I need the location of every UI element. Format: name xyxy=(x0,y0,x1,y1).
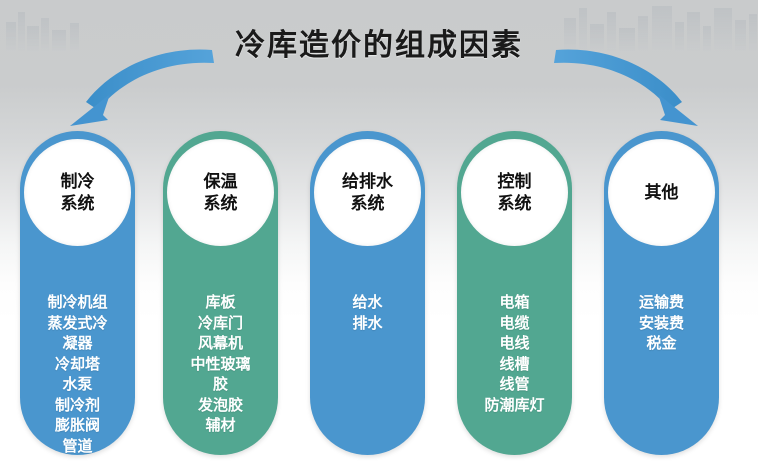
pill-items-water-supply-drainage: 给水 排水 xyxy=(310,292,425,333)
page-title: 冷库造价的组成因素 xyxy=(0,20,758,64)
infographic-canvas: 冷库造价的组成因素 制冷 系统 制冷机组 蒸发式冷 凝器 冷却塔 水泵 制冷剂 … xyxy=(0,0,758,473)
pill-circle-control: 控制 系统 xyxy=(461,139,568,246)
pill-heading-refrigeration: 制冷 系统 xyxy=(57,171,99,215)
pill-circle-other: 其他 xyxy=(608,139,715,246)
pill-row: 制冷 系统 制冷机组 蒸发式冷 凝器 冷却塔 水泵 制冷剂 膨胀阀 管道 保温 … xyxy=(0,131,758,461)
pill-circle-water-supply-drainage: 给排水 系统 xyxy=(314,139,421,246)
pill-circle-refrigeration: 制冷 系统 xyxy=(24,139,131,246)
category-pill-insulation[interactable]: 保温 系统 库板 冷库门 风幕机 中性玻璃 胶 发泡胶 辅材 xyxy=(163,131,278,455)
pill-items-control: 电箱 电缆 电线 线槽 线管 防潮库灯 xyxy=(457,292,572,415)
pill-heading-insulation: 保温 系统 xyxy=(200,171,242,215)
category-pill-other[interactable]: 其他 运输费 安装费 税金 xyxy=(604,131,719,455)
category-pill-refrigeration[interactable]: 制冷 系统 制冷机组 蒸发式冷 凝器 冷却塔 水泵 制冷剂 膨胀阀 管道 xyxy=(20,131,135,455)
pill-circle-insulation: 保温 系统 xyxy=(167,139,274,246)
category-pill-control[interactable]: 控制 系统 电箱 电缆 电线 线槽 线管 防潮库灯 xyxy=(457,131,572,455)
pill-heading-control: 控制 系统 xyxy=(494,171,536,215)
pill-heading-other: 其他 xyxy=(641,182,683,204)
pill-items-refrigeration: 制冷机组 蒸发式冷 凝器 冷却塔 水泵 制冷剂 膨胀阀 管道 xyxy=(20,292,135,456)
category-pill-water-supply-drainage[interactable]: 给排水 系统 给水 排水 xyxy=(310,131,425,455)
pill-heading-water-supply-drainage: 给排水 系统 xyxy=(338,171,397,215)
pill-items-insulation: 库板 冷库门 风幕机 中性玻璃 胶 发泡胶 辅材 xyxy=(163,292,278,436)
pill-items-other: 运输费 安装费 税金 xyxy=(604,292,719,354)
